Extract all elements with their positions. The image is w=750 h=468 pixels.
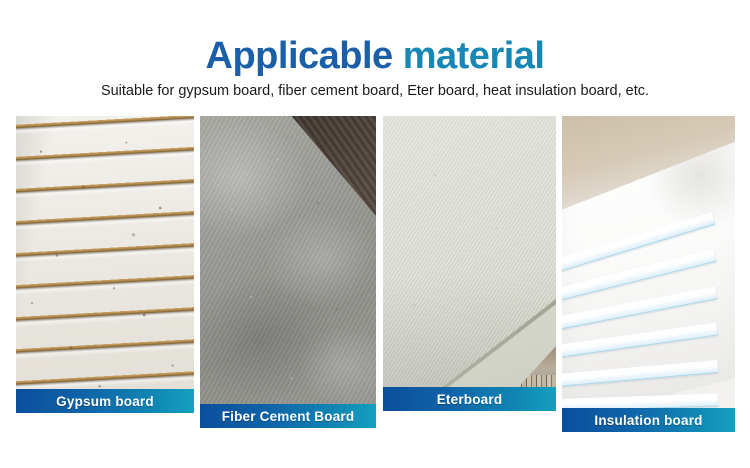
- insulation-sheet: [562, 323, 718, 365]
- applicable-material-banner: Applicable material Suitable for gypsum …: [0, 0, 750, 468]
- gypsum-speckle-texture: [16, 116, 194, 413]
- material-caption-fiber-cement-board: Fiber Cement Board: [200, 404, 376, 428]
- page-subtitle: Suitable for gypsum board, fiber cement …: [0, 82, 750, 100]
- insulation-sheet: [562, 360, 718, 391]
- insulation-sheet-stack: [562, 116, 735, 432]
- eterboard-photo: [383, 116, 556, 411]
- fiber-cement-board-photo: [200, 116, 376, 428]
- page-title-word-primary: Applicable: [206, 35, 393, 77]
- gypsum-board-photo: [16, 116, 194, 413]
- material-card-eterboard: Eterboard: [383, 116, 556, 411]
- page-title: Applicable material: [0, 34, 750, 78]
- material-card-gypsum-board: Gypsum board: [16, 116, 194, 413]
- insulation-board-photo: [562, 116, 735, 432]
- material-card-fiber-cement-board: Fiber Cement Board: [200, 116, 376, 428]
- material-caption-insulation-board: Insulation board: [562, 408, 735, 432]
- material-card-insulation-board: Insulation board: [562, 116, 735, 432]
- material-caption-gypsum-board: Gypsum board: [16, 389, 194, 413]
- page-title-word-secondary: material: [403, 35, 545, 77]
- material-caption-eterboard: Eterboard: [383, 387, 556, 411]
- page-title-space: [393, 35, 403, 77]
